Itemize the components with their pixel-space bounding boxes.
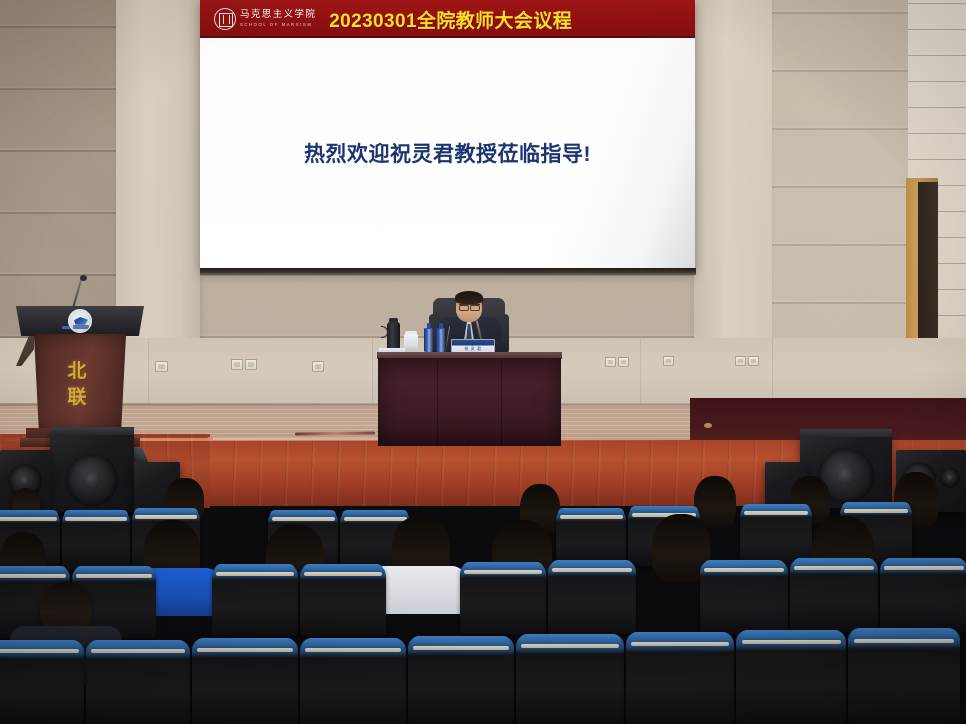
audience-seat[interactable] bbox=[548, 560, 636, 634]
head-table-area: 祝 灵 君 bbox=[377, 286, 562, 446]
audience-seat[interactable] bbox=[300, 564, 386, 636]
school-logo: 马克思主义学院 SCHOOL OF MARXISM bbox=[214, 8, 316, 30]
audience-seat[interactable] bbox=[790, 558, 878, 632]
head-table-front bbox=[378, 358, 561, 446]
wall-outlet bbox=[155, 361, 168, 372]
stage-floor-marker bbox=[207, 437, 213, 441]
audience-seat[interactable] bbox=[880, 558, 966, 632]
audience-seat[interactable] bbox=[516, 634, 624, 724]
school-name-cn: 马克思主义学院 bbox=[240, 11, 316, 21]
audience-seat[interactable] bbox=[0, 640, 84, 724]
pa-speaker-top-right bbox=[800, 429, 892, 437]
podium-microphone-icon bbox=[80, 275, 87, 281]
audience-seat[interactable] bbox=[62, 510, 130, 570]
audience-seat[interactable] bbox=[740, 504, 812, 566]
audience-seat[interactable] bbox=[556, 508, 626, 568]
podium-microphone-stem bbox=[72, 279, 82, 308]
table-panel-seam bbox=[437, 358, 438, 446]
audience-seat[interactable] bbox=[192, 638, 298, 724]
audience-seat[interactable] bbox=[300, 638, 406, 724]
audience-seat[interactable] bbox=[408, 636, 514, 724]
audience-seat[interactable] bbox=[736, 630, 846, 724]
water-bottle bbox=[436, 328, 445, 352]
speaker-nameplate: 祝 灵 君 bbox=[451, 339, 495, 353]
table-panel-seam bbox=[501, 358, 502, 446]
audience-seat[interactable] bbox=[212, 564, 298, 636]
university-crest-icon bbox=[68, 309, 92, 333]
audience-seat[interactable] bbox=[626, 632, 734, 724]
stage-floor-marker bbox=[704, 423, 712, 428]
slide-welcome-heading: 热烈欢迎祝灵君教授莅临指导! bbox=[304, 138, 591, 168]
wall-outlet bbox=[245, 359, 257, 370]
slide-content-area: 热烈欢迎祝灵君教授莅临指导! bbox=[200, 38, 695, 272]
wall-outlet bbox=[618, 357, 629, 367]
wall-outlet bbox=[312, 361, 324, 372]
wall-outlet bbox=[748, 356, 759, 366]
audience-seat[interactable] bbox=[848, 628, 960, 724]
screen-bottom-edge bbox=[200, 268, 696, 275]
water-bottle bbox=[424, 328, 433, 352]
slide-title: 20230301全院教师大会议程 bbox=[316, 6, 585, 33]
wall-seam bbox=[640, 338, 641, 410]
podium-indicator-light bbox=[62, 326, 70, 329]
school-seal-icon bbox=[214, 8, 236, 30]
audience-seat[interactable] bbox=[700, 560, 788, 634]
audience-seating bbox=[0, 470, 966, 724]
wall-outlet bbox=[231, 359, 243, 370]
podium-character-bottom: 联 bbox=[60, 382, 94, 409]
wall-seam bbox=[148, 338, 149, 410]
auditorium-scene: 马克思主义学院 SCHOOL OF MARXISM 20230301全院教师大会… bbox=[0, 0, 966, 724]
tea-cup bbox=[404, 334, 418, 351]
glasses-icon bbox=[459, 304, 480, 308]
wall-outlet bbox=[735, 356, 746, 366]
pa-speaker-top-left bbox=[50, 427, 134, 435]
audience-seat[interactable] bbox=[86, 640, 190, 724]
slide-header-bar: 马克思主义学院 SCHOOL OF MARXISM 20230301全院教师大会… bbox=[200, 0, 695, 38]
school-name-en: SCHOOL OF MARXISM bbox=[240, 22, 316, 27]
audience-seat[interactable] bbox=[460, 562, 546, 634]
wall-outlet bbox=[605, 357, 616, 367]
wall-seam bbox=[372, 338, 373, 410]
podium-character-top: 北 bbox=[60, 356, 94, 383]
speaker-hair bbox=[455, 291, 483, 304]
projection-screen: 马克思主义学院 SCHOOL OF MARXISM 20230301全院教师大会… bbox=[200, 0, 695, 272]
wall-outlet bbox=[663, 356, 674, 366]
